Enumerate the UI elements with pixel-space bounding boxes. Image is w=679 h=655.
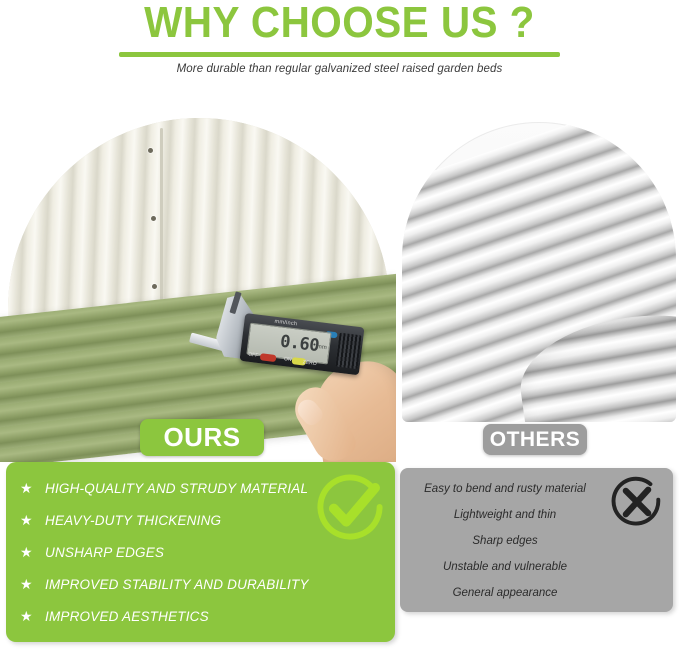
star-icon: ★ — [20, 513, 38, 527]
rivet — [151, 216, 156, 221]
star-icon: ★ — [20, 609, 38, 623]
check-circle-icon — [313, 470, 387, 544]
title-divider — [119, 52, 560, 57]
others-product-photo: mm/inch 0.30 mm OFF ON ZERO — [398, 100, 679, 462]
caliper-grip — [336, 333, 362, 369]
star-icon: ★ — [20, 481, 38, 495]
feature-label: IMPROVED STABILITY AND DURABILITY — [45, 577, 309, 592]
others-drawback-list: Easy to bend and rusty material Lightwei… — [400, 476, 610, 606]
caliper-off-button[interactable] — [260, 353, 277, 362]
caliper-reading: 0.60 — [279, 332, 320, 357]
list-item: Sharp edges — [400, 528, 610, 554]
ours-product-photo: mm/inch 0.60 mm OFF ON ZERO — [0, 100, 396, 462]
feature-label: UNSHARP EDGES — [45, 545, 164, 560]
page-title: WHY CHOOSE US ? — [27, 0, 652, 48]
cross-circle-icon — [609, 474, 665, 530]
header: WHY CHOOSE US ? More durable than regula… — [0, 0, 679, 100]
rivet — [152, 284, 157, 289]
infographic-page: WHY CHOOSE US ? More durable than regula… — [0, 0, 679, 655]
photo-comparison-row: mm/inch 0.60 mm OFF ON ZERO — [0, 100, 679, 462]
list-item: ★ HIGH-QUALITY AND STRUDY MATERIAL — [20, 472, 360, 504]
ours-features-panel: ★ HIGH-QUALITY AND STRUDY MATERIAL ★ HEA… — [6, 462, 395, 642]
feature-label: IMPROVED AESTHETICS — [45, 609, 209, 624]
feature-label: HEAVY-DUTY THICKENING — [45, 513, 221, 528]
star-icon: ★ — [20, 545, 38, 559]
others-drawbacks-panel: Easy to bend and rusty material Lightwei… — [400, 468, 673, 612]
feature-label: HIGH-QUALITY AND STRUDY MATERIAL — [45, 481, 308, 496]
list-item: Unstable and vulnerable — [400, 554, 610, 580]
caliper-zero-label: ZERO — [302, 359, 317, 367]
star-icon: ★ — [20, 577, 38, 591]
caliper-on-label: ON — [284, 356, 292, 363]
list-item: Easy to bend and rusty material — [400, 476, 610, 502]
caliper-unit: mm — [316, 344, 327, 351]
list-item: ★ IMPROVED STABILITY AND DURABILITY — [20, 568, 360, 600]
list-item: ★ UNSHARP EDGES — [20, 536, 360, 568]
others-badge: OTHERS — [483, 424, 587, 455]
list-item: ★ HEAVY-DUTY THICKENING — [20, 504, 360, 536]
ours-badge: OURS — [140, 419, 264, 456]
list-item: ★ IMPROVED AESTHETICS — [20, 600, 360, 632]
rivet — [148, 148, 153, 153]
list-item: General appearance — [400, 580, 610, 606]
caliper-off-label: OFF — [248, 352, 259, 359]
silver-photo-backdrop — [402, 122, 676, 422]
list-item: Lightweight and thin — [400, 502, 610, 528]
ours-feature-list: ★ HIGH-QUALITY AND STRUDY MATERIAL ★ HEA… — [20, 472, 360, 632]
page-subtitle: More durable than regular galvanized ste… — [0, 63, 679, 75]
